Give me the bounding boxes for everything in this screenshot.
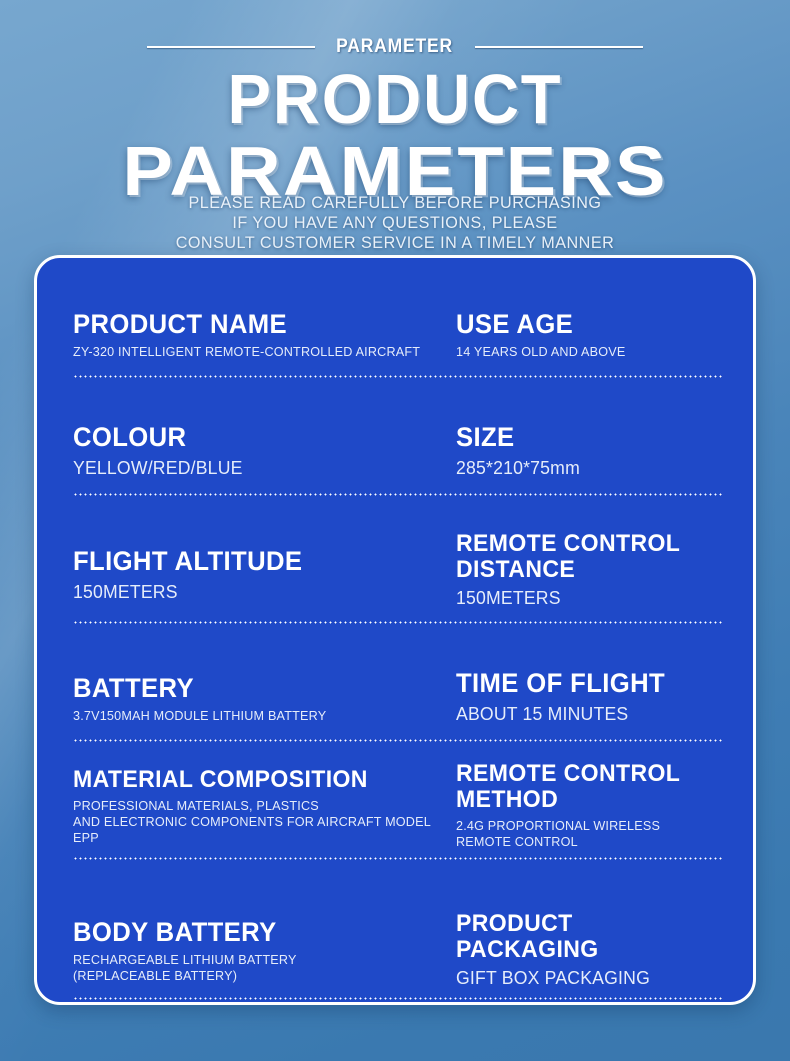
spec-cell-left: BATTERY3.7V150MAH MODULE LITHIUM BATTERY [73,624,456,742]
spec-cell-left: MATERIAL COMPOSITIONPROFESSIONAL MATERIA… [73,742,456,860]
spec-label: REMOTE CONTROL DISTANCE [456,531,707,582]
eyebrow-label: PARAMETER [337,36,454,58]
row-divider [73,997,722,1000]
spec-label: PRODUCT PACKAGING [456,911,707,962]
spec-cell-left: BODY BATTERYRECHARGEABLE LITHIUM BATTERY… [73,860,456,1000]
spec-value: PROFESSIONAL MATERIALS, PLASTICS AND ELE… [73,798,435,846]
spec-cell-left: COLOURYELLOW/RED/BLUE [73,378,456,496]
spec-cell-right: USE AGE14 YEARS OLD AND ABOVE [456,258,717,378]
spec-row: BODY BATTERYRECHARGEABLE LITHIUM BATTERY… [37,860,753,1000]
spec-label: TIME OF FLIGHT [456,669,704,698]
spec-value: 14 YEARS OLD AND ABOVE [456,344,709,360]
spec-cell-right: SIZE285*210*75mm [456,378,717,496]
spec-label: REMOTE CONTROL METHOD [456,761,707,812]
spec-row: FLIGHT ALTITUDE150METERSREMOTE CONTROL D… [37,496,753,624]
spec-value: YELLOW/RED/BLUE [73,458,438,480]
page-title: PRODUCT PARAMETERS [0,64,790,206]
spec-value: RECHARGEABLE LITHIUM BATTERY (REPLACEABL… [73,952,435,984]
spec-label: USE AGE [456,310,704,339]
parameters-panel: PRODUCT NAMEZY-320 INTELLIGENT REMOTE-CO… [34,255,756,1005]
spec-label: MATERIAL COMPOSITION [73,767,431,792]
spec-cell-left: PRODUCT NAMEZY-320 INTELLIGENT REMOTE-CO… [73,258,456,378]
eyebrow-banner: PARAMETER [0,36,790,58]
spec-cell-right: REMOTE CONTROL METHOD2.4G PROPORTIONAL W… [456,742,717,860]
spec-value: 285*210*75mm [456,458,712,480]
subtitle-block: PLEASE READ CAREFULLY BEFORE PURCHASING … [0,193,790,253]
subtitle-line-1: PLEASE READ CAREFULLY BEFORE PURCHASING [8,193,782,213]
eyebrow-rule-left [147,46,315,48]
spec-value: ABOUT 15 MINUTES [456,704,712,726]
spec-cell-right: REMOTE CONTROL DISTANCE150METERS [456,496,717,624]
parameters-table: PRODUCT NAMEZY-320 INTELLIGENT REMOTE-CO… [37,258,753,1000]
spec-label: FLIGHT ALTITUDE [73,547,427,576]
subtitle-line-2: IF YOU HAVE ANY QUESTIONS, PLEASE [8,213,782,233]
spec-cell-right: TIME OF FLIGHTABOUT 15 MINUTES [456,624,717,742]
spec-value: 150METERS [73,582,438,604]
title-line-1: PRODUCT [28,64,763,134]
spec-label: BODY BATTERY [73,918,427,947]
eyebrow-rule-right [475,46,643,48]
product-parameters-page: PARAMETER PRODUCT PARAMETERS PLEASE READ… [0,0,790,1061]
spec-label: BATTERY [73,674,427,703]
spec-row: MATERIAL COMPOSITIONPROFESSIONAL MATERIA… [37,742,753,860]
spec-label: COLOUR [73,423,427,452]
spec-value: GIFT BOX PACKAGING [456,968,712,990]
subtitle-line-3: CONSULT CUSTOMER SERVICE IN A TIMELY MAN… [8,233,782,253]
spec-value: ZY-320 INTELLIGENT REMOTE-CONTROLLED AIR… [73,344,435,360]
spec-value: 3.7V150MAH MODULE LITHIUM BATTERY [73,708,435,724]
spec-cell-right: PRODUCT PACKAGINGGIFT BOX PACKAGING [456,860,717,1000]
spec-row: PRODUCT NAMEZY-320 INTELLIGENT REMOTE-CO… [37,258,753,378]
spec-value: 2.4G PROPORTIONAL WIRELESS REMOTE CONTRO… [456,818,709,850]
spec-row: BATTERY3.7V150MAH MODULE LITHIUM BATTERY… [37,624,753,742]
spec-row: COLOURYELLOW/RED/BLUESIZE285*210*75mm [37,378,753,496]
spec-label: SIZE [456,423,704,452]
spec-cell-left: FLIGHT ALTITUDE150METERS [73,496,456,624]
spec-value: 150METERS [456,588,712,610]
spec-label: PRODUCT NAME [73,310,427,339]
